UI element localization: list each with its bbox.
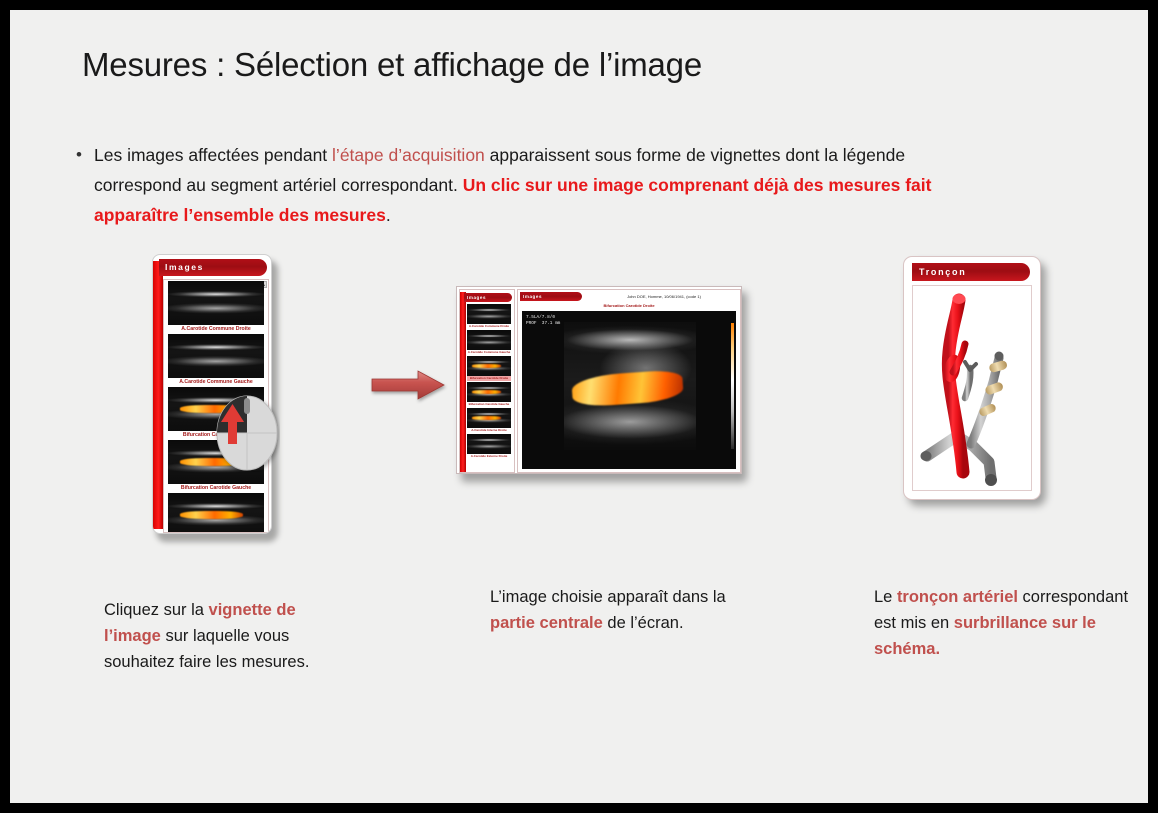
thumbnail-label: A.Carotide Interne Droite (467, 428, 511, 433)
figure2-main-area: Images John DOE, Homme, 10/06/1941, (cod… (517, 289, 741, 473)
thumbnail-label: A.Carotide Commune Droite (467, 324, 511, 329)
thumbnail-item[interactable]: A.Carotide Commune Droite (168, 281, 264, 333)
paragraph-part-3: . (386, 205, 391, 225)
doppler-overlay (472, 416, 501, 420)
figure2-main-tab[interactable]: Images (520, 292, 582, 301)
thumbnail-label: Bifurcation Carotide Droite (467, 376, 511, 381)
figure-arterial-diagram: Tronçon (903, 256, 1051, 512)
ultrasound-texture (467, 330, 511, 350)
bullet-paragraph: • Les images affectées pendant l’étape d… (76, 140, 936, 230)
thumbnail-image (467, 408, 511, 428)
thumbnail-label: A.Carotide Commune Gauche (467, 350, 511, 355)
images-panel-title: Images (159, 259, 267, 276)
troncon-panel-title: Tronçon (912, 263, 1030, 281)
study-title: Bifurcation Carotide Droite (520, 303, 738, 308)
figure-row: Images ▲ A.Carotide Commune DroiteA.Caro… (10, 240, 1148, 560)
sidebar-thumbnail[interactable]: A.Carotide Externe Droite (467, 434, 511, 459)
mouse-left-click-icon (214, 394, 280, 472)
viewer-osd-line-2: PROF 37.1 mm (526, 321, 560, 327)
figure2-sidebar-title: Images (464, 293, 512, 302)
paragraph-emphasis-light: l’étape d’acquisition (332, 145, 485, 165)
figure3-card: Tronçon (903, 256, 1041, 500)
caption1-pre: Cliquez sur la (104, 601, 209, 619)
thumbnail-image (467, 304, 511, 324)
flow-arrow (370, 368, 450, 404)
figure2-main-header: Images John DOE, Homme, 10/06/1941, (cod… (520, 292, 738, 301)
image-viewer[interactable]: 7.5LA/7.8/0 PROF 37.1 mm (522, 311, 736, 469)
caption-right: Le tronçon artériel correspondant est mi… (874, 584, 1134, 662)
ultrasound-texture (168, 334, 264, 378)
ultrasound-texture (467, 304, 511, 324)
artery-tree-diagram[interactable] (912, 285, 1032, 491)
thumbnail-image (467, 330, 511, 350)
ultrasound-texture (168, 281, 264, 325)
caption3-pre: Le (874, 588, 897, 606)
figure2-sidebar[interactable]: Images A.Carotide Commune DroiteA.Caroti… (459, 289, 515, 473)
sidebar-thumbnail[interactable]: Bifurcation Carotide Gauche (467, 382, 511, 407)
thumbnail-item[interactable]: A.Carotide Commune Gauche (168, 334, 264, 386)
doppler-overlay (472, 390, 501, 394)
sidebar-thumbnail[interactable]: A.Carotide Commune Droite (467, 304, 511, 329)
figure2-card: Images A.Carotide Commune DroiteA.Caroti… (456, 286, 742, 474)
thumbnail-label: A.Carotide Commune Droite (168, 325, 264, 333)
bullet-text: Les images affectées pendant l’étape d’a… (94, 140, 936, 230)
caption2-pre: L’image choisie apparaît dans la (490, 588, 726, 606)
sidebar-thumbnail-selected[interactable]: Bifurcation Carotide Droite (467, 356, 511, 381)
caption2-highlight: partie centrale (490, 614, 603, 632)
thumbnail-item[interactable]: A.Carotide Interne Droite (168, 493, 264, 533)
thumbnail-label: A.Carotide Externe Droite (467, 454, 511, 459)
caption-left: Cliquez sur la vignette de l’image sur l… (104, 597, 354, 675)
thumbnail-label: Bifurcation Carotide Gauche (467, 402, 511, 407)
right-arrow-icon (370, 368, 450, 404)
ultrasound-texture (467, 434, 511, 454)
thumbnail-image (467, 434, 511, 454)
patient-info: John DOE, Homme, 10/06/1941, (code 1) (590, 292, 738, 301)
doppler-overlay (180, 511, 243, 519)
doppler-overlay (472, 364, 501, 368)
figure-thumbnail-panel: Images ▲ A.Carotide Commune DroiteA.Caro… (152, 254, 280, 544)
sidebar-thumbnail[interactable]: A.Carotide Commune Gauche (467, 330, 511, 355)
figure-application-window: Images A.Carotide Commune DroiteA.Caroti… (456, 286, 752, 526)
sidebar-thumbnail[interactable]: A.Carotide Interne Droite (467, 408, 511, 433)
thumbnail-image (467, 356, 511, 376)
paragraph-part-1: Les images affectées pendant (94, 145, 332, 165)
ultrasound-image-large (564, 322, 696, 450)
thumbnail-image (168, 493, 264, 533)
bullet-marker: • (76, 140, 94, 170)
figure1-red-edge (153, 261, 163, 529)
slide-frame: Mesures : Sélection et affichage de l’im… (0, 0, 1158, 813)
slide-canvas: Mesures : Sélection et affichage de l’im… (10, 10, 1148, 803)
thumbnail-label: Bifurcation Carotide Gauche (168, 484, 264, 492)
thumbnail-image (467, 382, 511, 402)
colour-scale-bar (731, 323, 734, 449)
thumbnail-label: A.Carotide Commune Gauche (168, 378, 264, 386)
page-title: Mesures : Sélection et affichage de l’im… (82, 46, 982, 84)
thumbnail-image (168, 334, 264, 378)
caption-middle: L’image choisie apparaît dans la partie … (490, 584, 730, 636)
caption2-post: de l’écran. (603, 614, 684, 632)
thumbnail-image (168, 281, 264, 325)
caption3-highlight: tronçon artériel (897, 588, 1018, 606)
